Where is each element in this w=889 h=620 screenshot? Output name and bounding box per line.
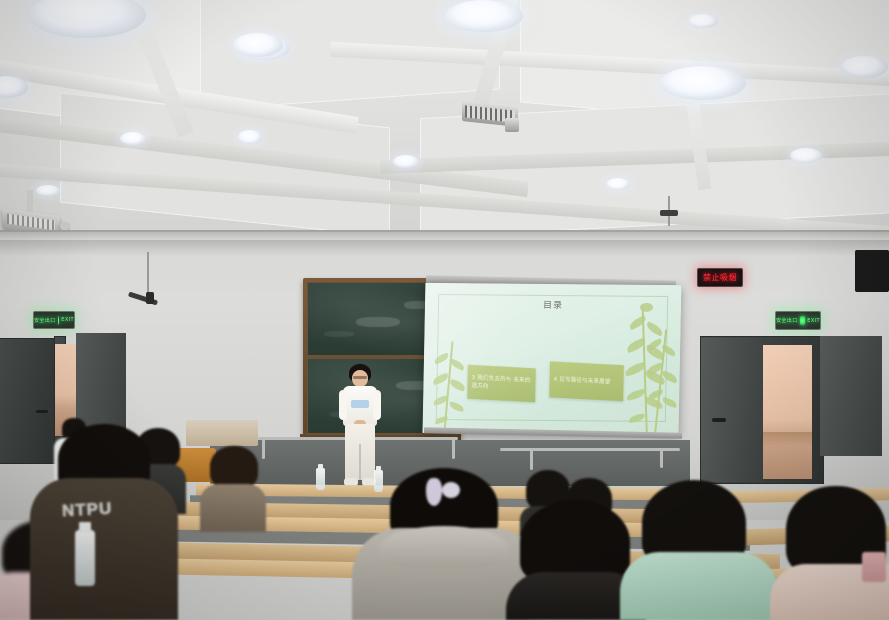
exit-sign-left-label: 安全出口 (34, 317, 56, 324)
door-handle-left[interactable] (36, 410, 48, 413)
ceiling-light (233, 33, 283, 57)
water-bottle-cap (79, 522, 91, 532)
hair-clip (426, 478, 442, 506)
ceiling-light (840, 56, 888, 78)
stage-rail-post (452, 437, 455, 459)
door-handle-right[interactable] (712, 418, 726, 422)
ceiling-light (790, 148, 822, 163)
ceiling-light (238, 130, 262, 144)
presenter-arm-right (373, 390, 381, 420)
audience-front-ntpu (28, 424, 178, 620)
toc-card-4-label: 4 见写路径与未来展望 (550, 375, 615, 387)
audience-member (200, 446, 266, 532)
hoodie-hood (380, 526, 508, 568)
running-man-icon (800, 316, 806, 325)
projection-screen: 目录 3 我们失去的与 未来的选方向 4 见写路径与未来展望 (423, 283, 682, 435)
hair (210, 446, 258, 488)
stage-rail (500, 448, 680, 451)
presenter-glasses (353, 376, 367, 379)
presenter-shirt-graphic (351, 400, 369, 408)
ceiling-light (393, 155, 419, 168)
ceiling-mic (660, 210, 678, 216)
wall-ledge (0, 232, 889, 240)
door-right-open-leaf[interactable] (701, 338, 763, 482)
led-notice-text: 禁止吸烟 (703, 272, 737, 283)
ceiling-light (688, 14, 718, 28)
ceiling-light (445, 0, 523, 32)
torso (200, 484, 266, 532)
exit-sign-right-sublabel: EXIT (807, 318, 820, 324)
water-bottle (75, 530, 95, 586)
presenter-arm-left (339, 390, 347, 420)
hair-clip-flower (442, 482, 460, 498)
exit-sign-right: 安全出口 EXIT (775, 311, 821, 330)
ceiling-vent (505, 118, 519, 132)
ceiling (0, 0, 889, 248)
ceiling-sensor (60, 222, 69, 230)
door-right-secondary[interactable] (820, 336, 882, 456)
ceiling-light (660, 66, 746, 100)
ceiling-light (606, 178, 630, 190)
exit-sign-right-label: 安全出口 (776, 317, 798, 324)
mint-jacket (620, 552, 778, 620)
presentation-slide: 目录 3 我们失去的与 未来的选方向 4 见写路径与未来展望 (423, 283, 682, 435)
mic-head (146, 292, 154, 304)
ceiling-light (120, 132, 146, 145)
led-notice-display: 禁止吸烟 (697, 268, 743, 287)
lecture-hall-photo: 禁止吸烟 安全出口 EXIT 安全出口 EXIT (0, 0, 889, 620)
plant-illustration-right-2 (645, 329, 681, 435)
exit-sign-left-sublabel: EXIT (61, 317, 74, 323)
water-bottle-cap (318, 464, 323, 469)
stage-rail-post (530, 448, 533, 470)
toc-card-3-label: 3 我们失去的与 未来的选方向 (467, 374, 535, 394)
slide-title: 目录 (425, 296, 681, 311)
exit-sign-left: 安全出口 EXIT (33, 311, 75, 329)
pink-cup (862, 552, 886, 582)
plant-illustration-left (431, 341, 467, 433)
corridor-light-right (762, 345, 812, 479)
corridor-floor-line (762, 432, 812, 445)
ceiling-light (36, 185, 60, 196)
running-man-icon (58, 316, 60, 325)
wall-speaker (855, 250, 889, 292)
water-bottle (316, 468, 325, 490)
toc-card-4: 4 见写路径与未来展望 (549, 361, 624, 401)
jacket-logo-text: NTPU (62, 499, 113, 522)
toc-card-3: 3 我们失去的与 未来的选方向 (467, 365, 536, 403)
cardboard-box (186, 420, 258, 446)
stage-rail-post (660, 448, 663, 468)
audience-front-mint (620, 480, 778, 620)
